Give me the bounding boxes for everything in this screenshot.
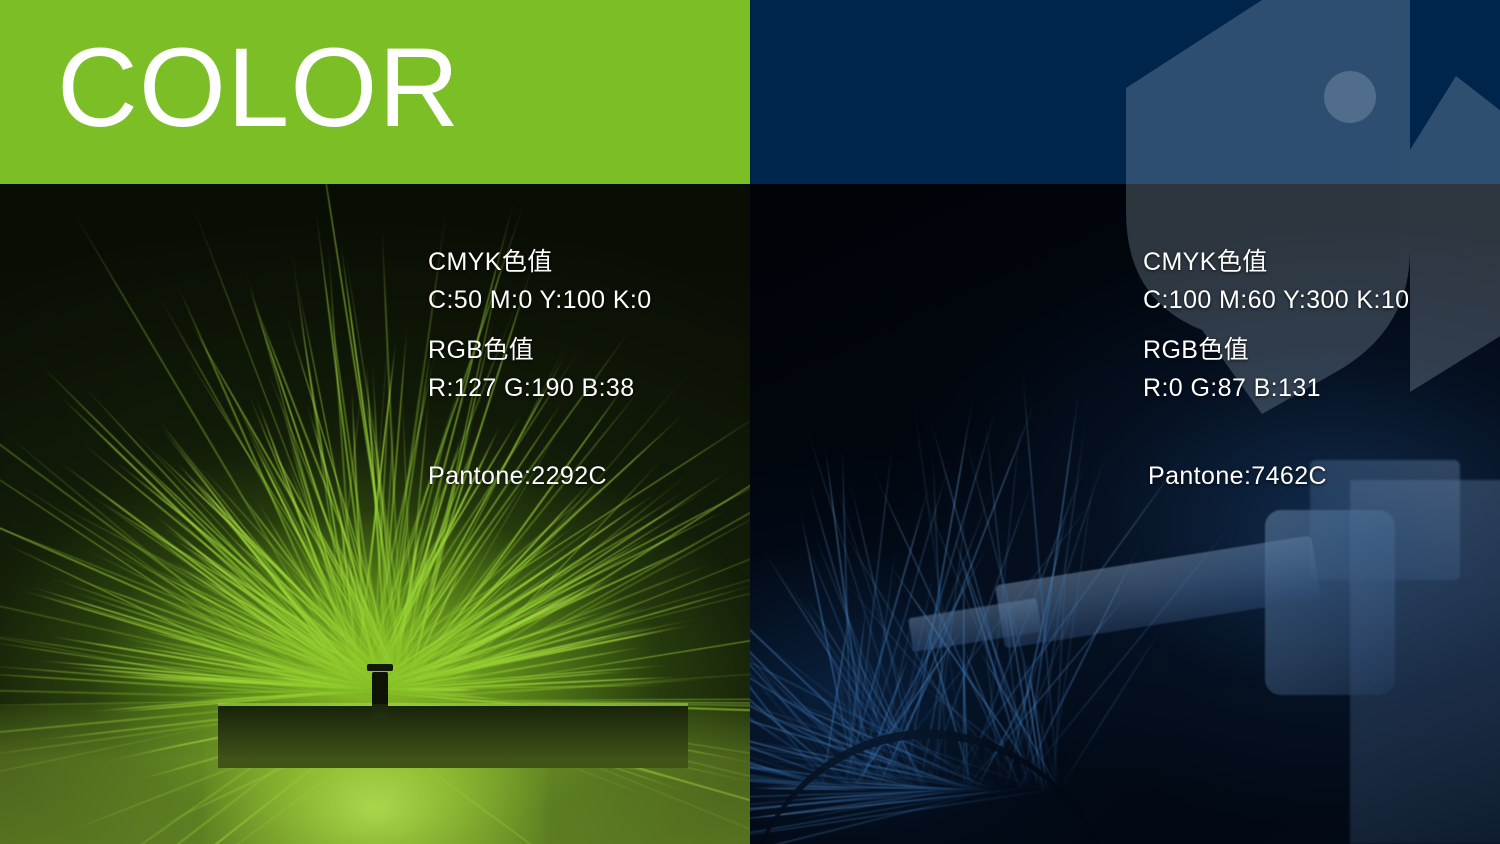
spacer xyxy=(1143,319,1409,331)
right-cmyk-value: C:100 M:60 Y:300 K:10 xyxy=(1143,281,1409,319)
left-color-spec: CMYK色值 C:50 M:0 Y:100 K:0 RGB色值 R:127 G:… xyxy=(428,243,652,495)
left-cmyk-value: C:50 M:0 Y:100 K:0 xyxy=(428,281,652,319)
left-rgb-label: RGB色值 xyxy=(428,331,652,369)
color-spec-slide: COLOR CMYK色值 C:50 M:0 Y:100 K:0 RGB色值 R:… xyxy=(0,0,1500,844)
spacer xyxy=(428,319,652,331)
navy-header-band xyxy=(750,0,1500,184)
left-cmyk-label: CMYK色值 xyxy=(428,243,652,281)
right-pantone-value: Pantone:7462C xyxy=(1143,457,1409,495)
left-pantone-value: Pantone:2292C xyxy=(428,457,652,495)
left-rgb-value: R:127 G:190 B:38 xyxy=(428,369,652,407)
right-cmyk-label: CMYK色值 xyxy=(1143,243,1409,281)
floor-reflection xyxy=(0,704,750,844)
right-color-spec: CMYK色值 C:100 M:60 Y:300 K:10 RGB色值 R:0 G… xyxy=(1143,243,1409,495)
right-rgb-value: R:0 G:87 B:131 xyxy=(1143,369,1409,407)
page-title: COLOR xyxy=(57,28,460,148)
right-rgb-label: RGB色值 xyxy=(1143,331,1409,369)
